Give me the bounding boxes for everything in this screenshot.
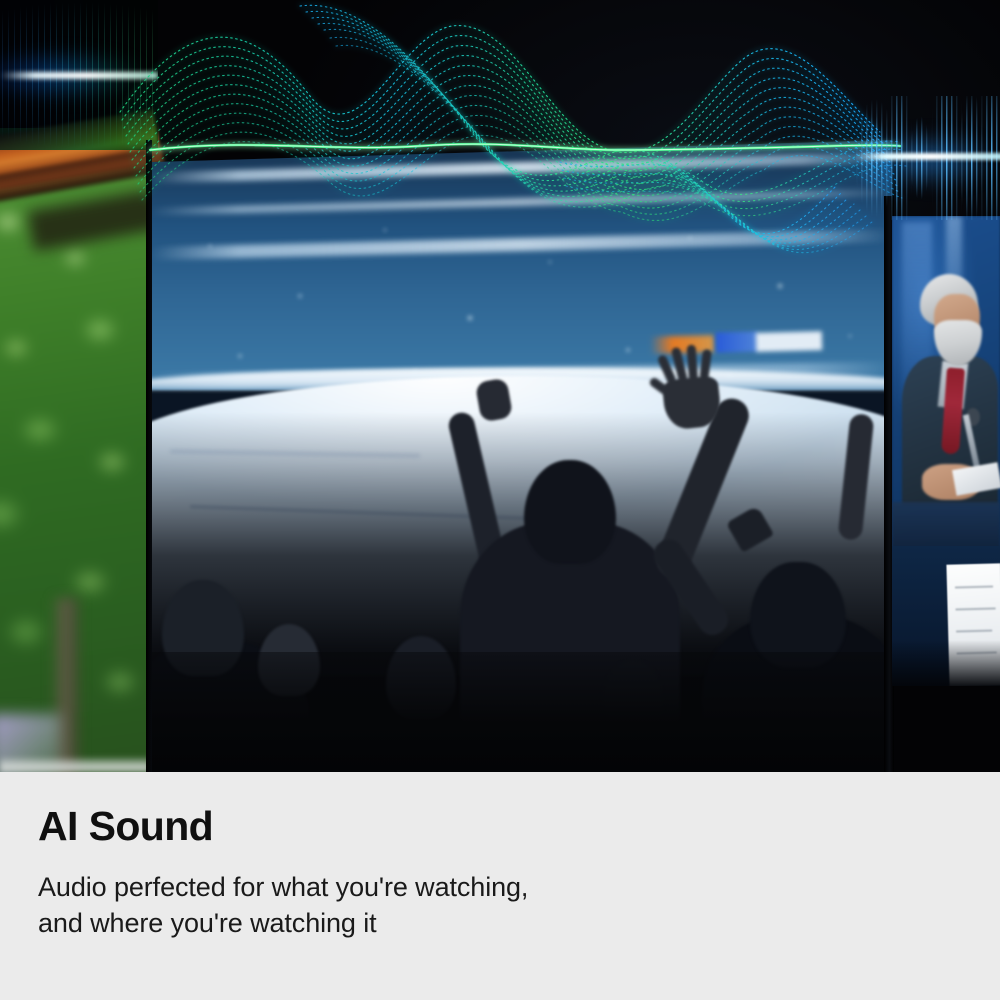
foreground-shadow [150, 652, 892, 772]
fan-silhouette-head [524, 460, 616, 564]
news-presenter-panel [892, 216, 1000, 686]
sign-blue [716, 331, 759, 352]
window-sill-bottom [0, 756, 150, 772]
spectrum-center-line [0, 72, 158, 79]
caption-panel: AI Sound Audio perfected for what you're… [0, 772, 1000, 1000]
audio-waveform-right [854, 96, 1000, 220]
panel-bottom-shadow [892, 640, 1000, 686]
sign-white [756, 331, 822, 352]
tv-bezel-left [146, 140, 152, 772]
ai-sound-feature-card: AI Sound Audio perfected for what you're… [0, 0, 1000, 1000]
hero-image [0, 0, 1000, 772]
page-subtitle: Audio perfected for what you're watching… [38, 870, 528, 942]
hockey-arena-crowd-screen [150, 140, 892, 772]
waveform-center-line [854, 153, 1000, 160]
audio-spectrum-bars-left [0, 0, 158, 150]
page-title: AI Sound [38, 806, 213, 847]
